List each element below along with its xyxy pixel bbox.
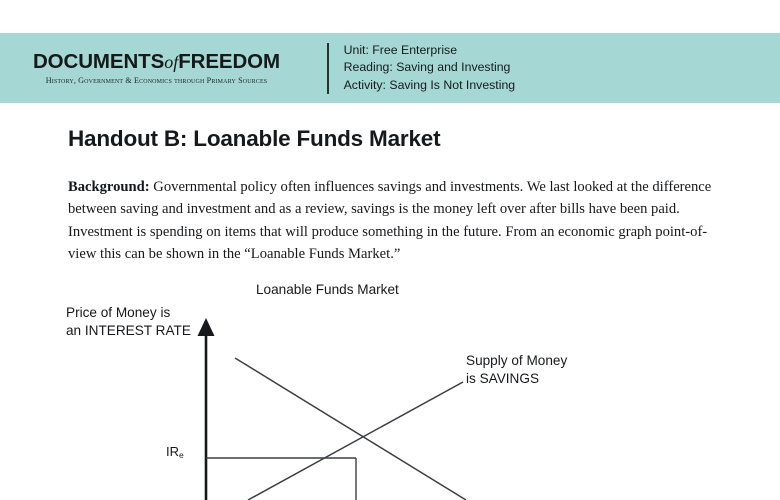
header-meta-unit: Unit: Free Enterprise <box>344 42 516 60</box>
brand-logo: DOCUMENTSofFREEDOM History, Government &… <box>0 51 327 86</box>
chart-plot-svg <box>0 272 780 500</box>
brand-title-word-freedom: FREEDOM <box>178 50 280 73</box>
brand-title-word-documents: DOCUMENTS <box>33 50 164 73</box>
page-header-band: DOCUMENTSofFREEDOM History, Government &… <box>0 33 780 103</box>
brand-title-word-of: of <box>164 52 178 72</box>
page-title: Handout B: Loanable Funds Market <box>68 126 440 152</box>
brand-title: DOCUMENTSofFREEDOM <box>33 51 280 73</box>
brand-subtitle: History, Government & Economics through … <box>46 76 268 85</box>
y-axis-arrowhead-icon <box>198 318 215 336</box>
demand-curve-line <box>235 358 466 500</box>
loanable-funds-chart: Loanable Funds Market Price of Money is … <box>0 272 780 500</box>
background-label: Background: <box>68 179 150 195</box>
header-meta-activity: Activity: Saving Is Not Investing <box>344 77 516 95</box>
background-text: Governmental policy often influences sav… <box>68 179 711 262</box>
header-metadata-block: Unit: Free Enterprise Reading: Saving an… <box>329 42 516 95</box>
background-paragraph: Background: Governmental policy often in… <box>68 176 716 266</box>
header-meta-reading: Reading: Saving and Investing <box>344 59 516 77</box>
